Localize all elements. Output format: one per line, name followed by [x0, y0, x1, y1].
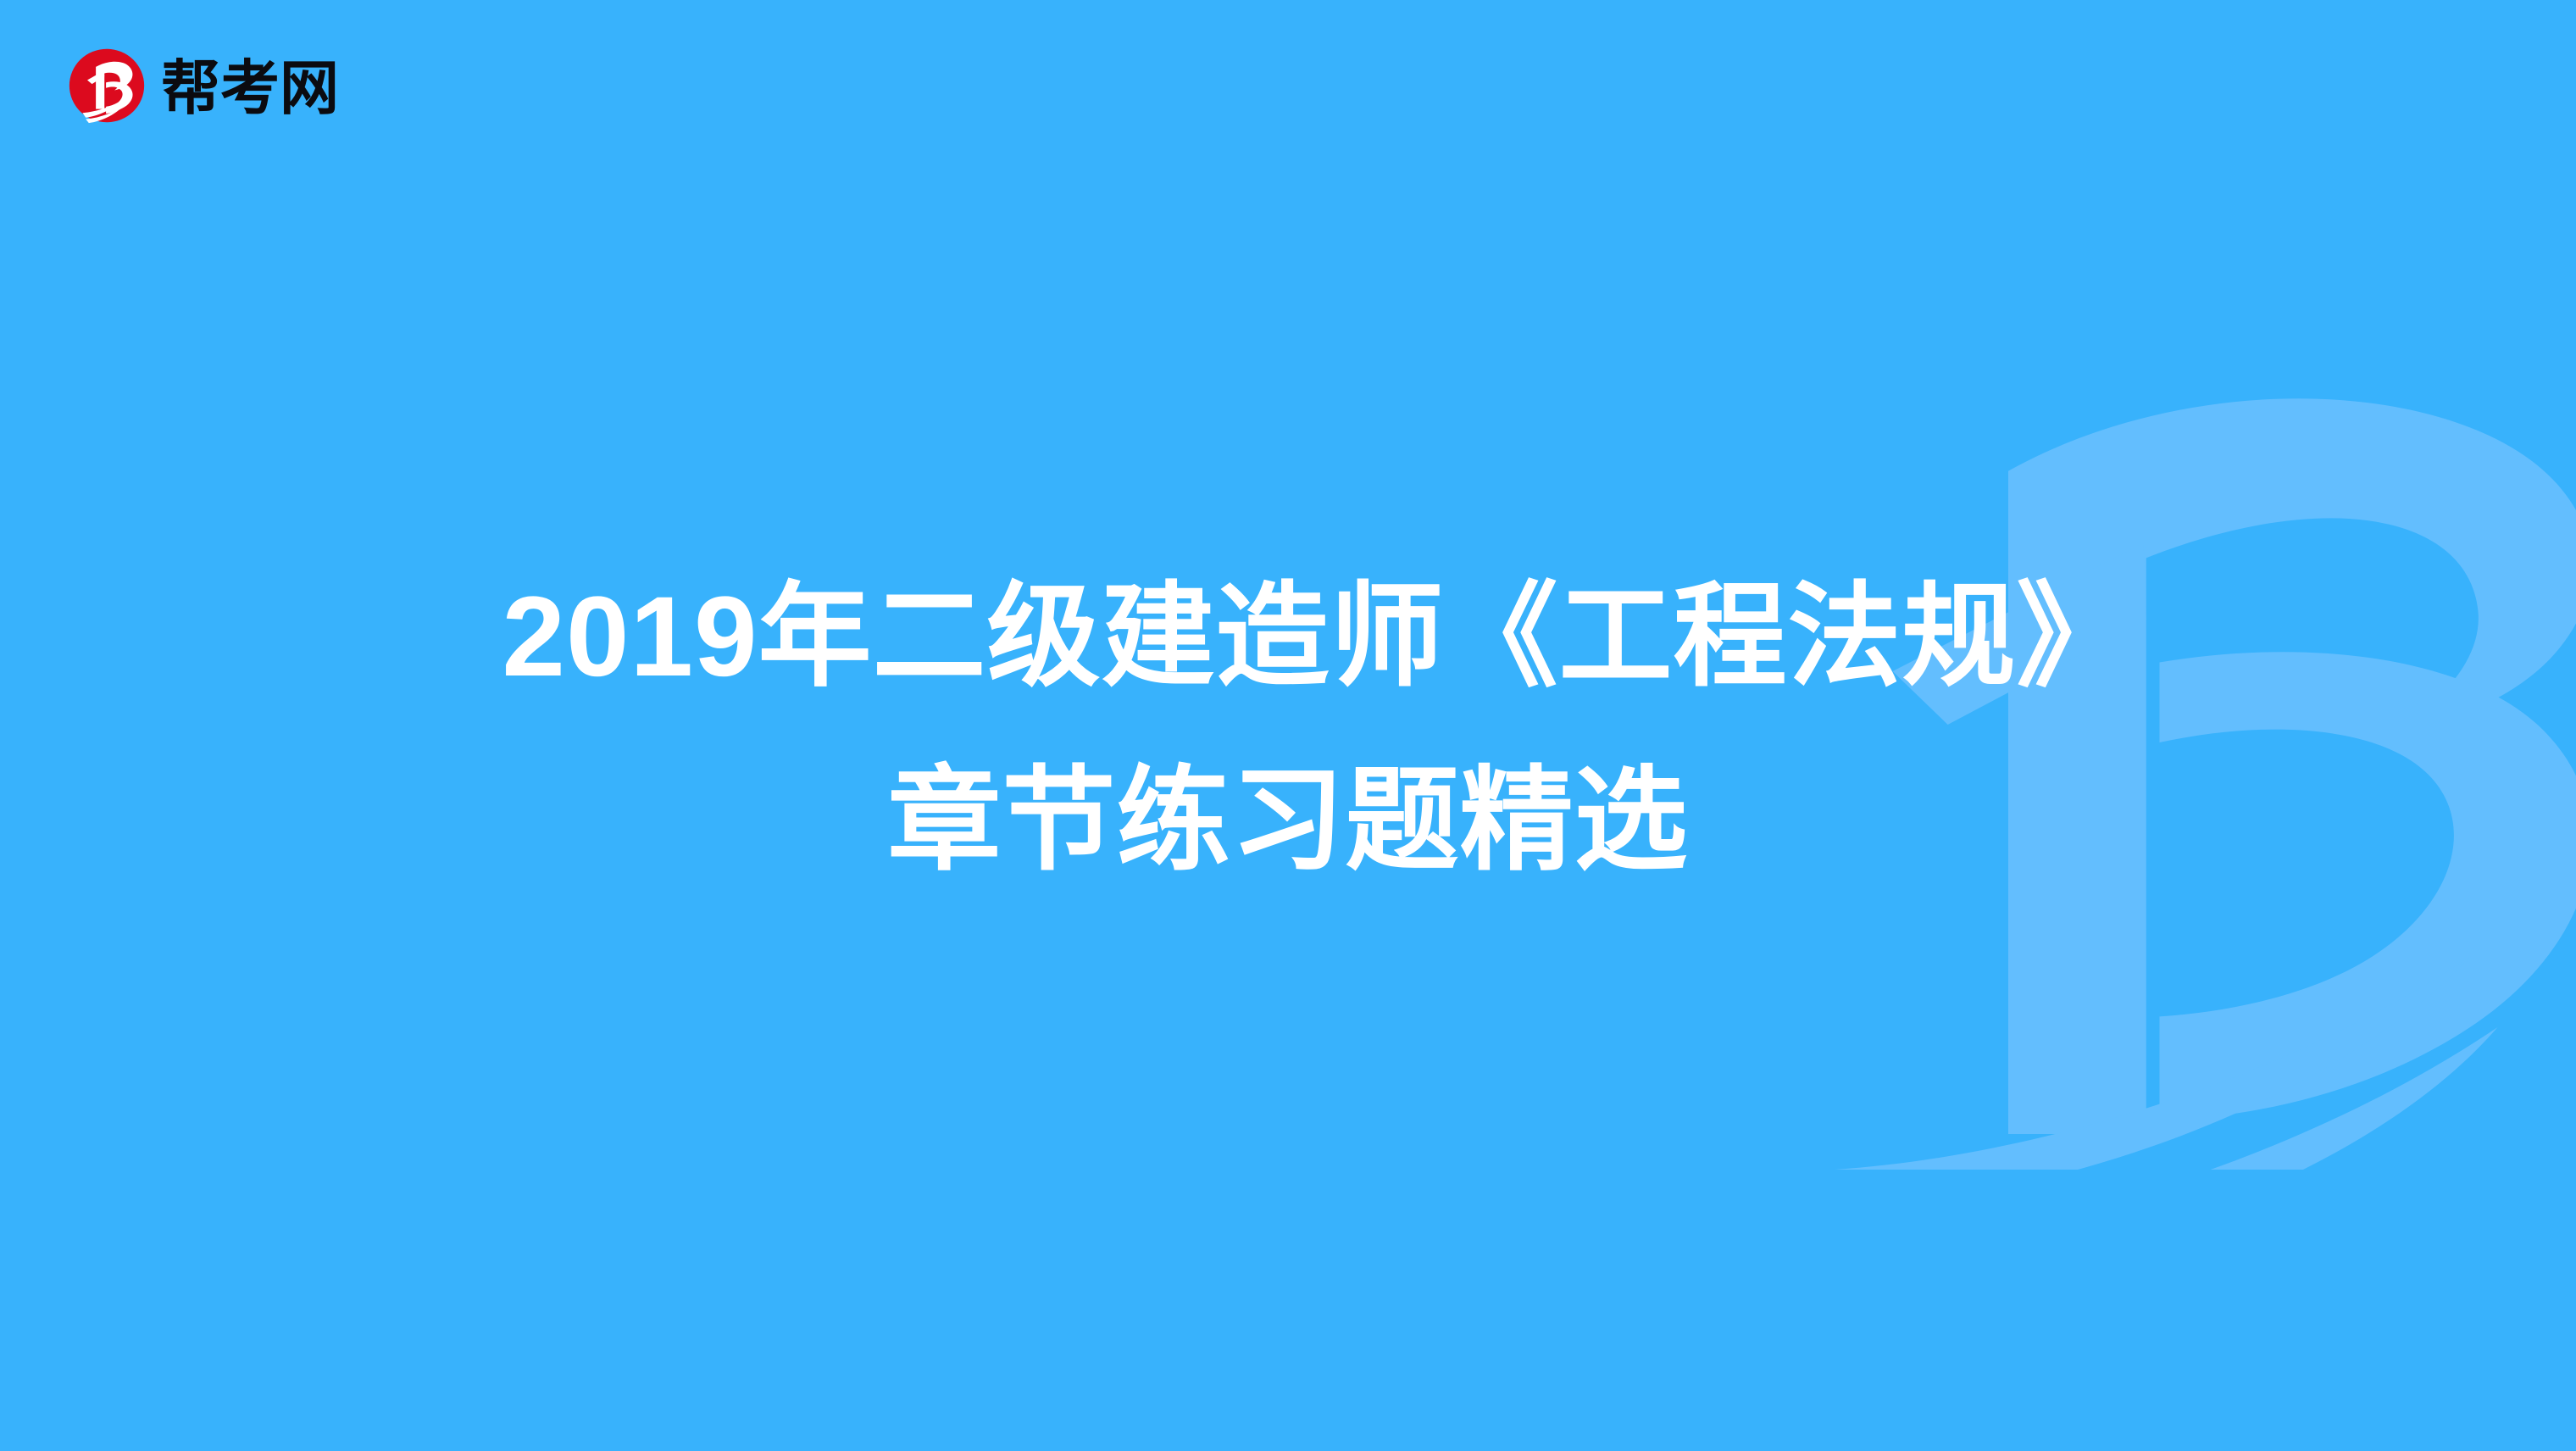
hero-section: 2019年二级建造师《工程法规》章节练习题精选 — [0, 0, 2576, 1451]
brand-logo[interactable]: 帮考网 — [68, 47, 339, 125]
brand-wordmark: 帮考网 — [161, 58, 339, 118]
bangkao-b-logo-icon — [68, 47, 146, 125]
page-title: 2019年二级建造师《工程法规》章节练习题精选 — [483, 545, 2093, 913]
promo-banner: 帮考网 2019年二级建造师《工程法规》章节练习题精选 — [0, 0, 2576, 1451]
